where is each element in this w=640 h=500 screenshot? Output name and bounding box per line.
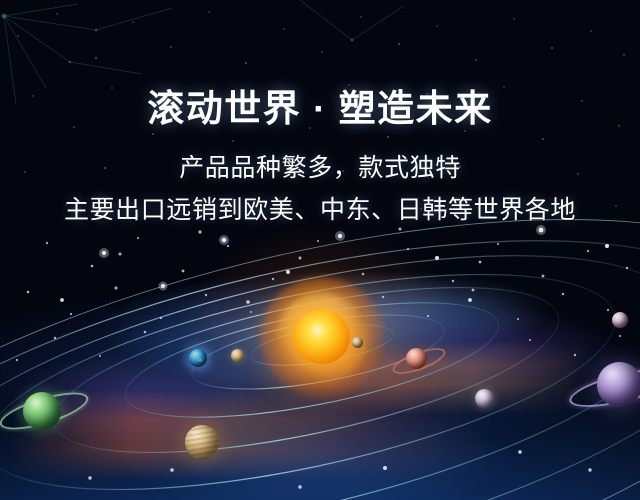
banner-subtitle-1: 产品品种繁多，款式独特 [0,148,640,184]
banner-subtitle-2: 主要出口远销到欧美、中东、日韩等世界各地 [0,190,640,226]
planet-green-ringed [23,392,61,430]
planet-red-ringed [406,348,427,369]
planet-tan-large-bands [185,425,219,459]
sun-core [294,310,350,364]
planet-purple-ringed [597,362,640,407]
planet-moon-right [352,337,363,348]
planet-tan-small [231,349,244,362]
planet-earth-landmass [189,349,207,367]
planet-grey [475,389,494,408]
banner-headline: 滚动世界 · 塑造未来 [0,78,640,132]
space-banner: 滚动世界 · 塑造未来 产品品种繁多，款式独特 主要出口远销到欧美、中东、日韩等… [0,0,640,500]
planet-small-top-right [612,312,628,328]
